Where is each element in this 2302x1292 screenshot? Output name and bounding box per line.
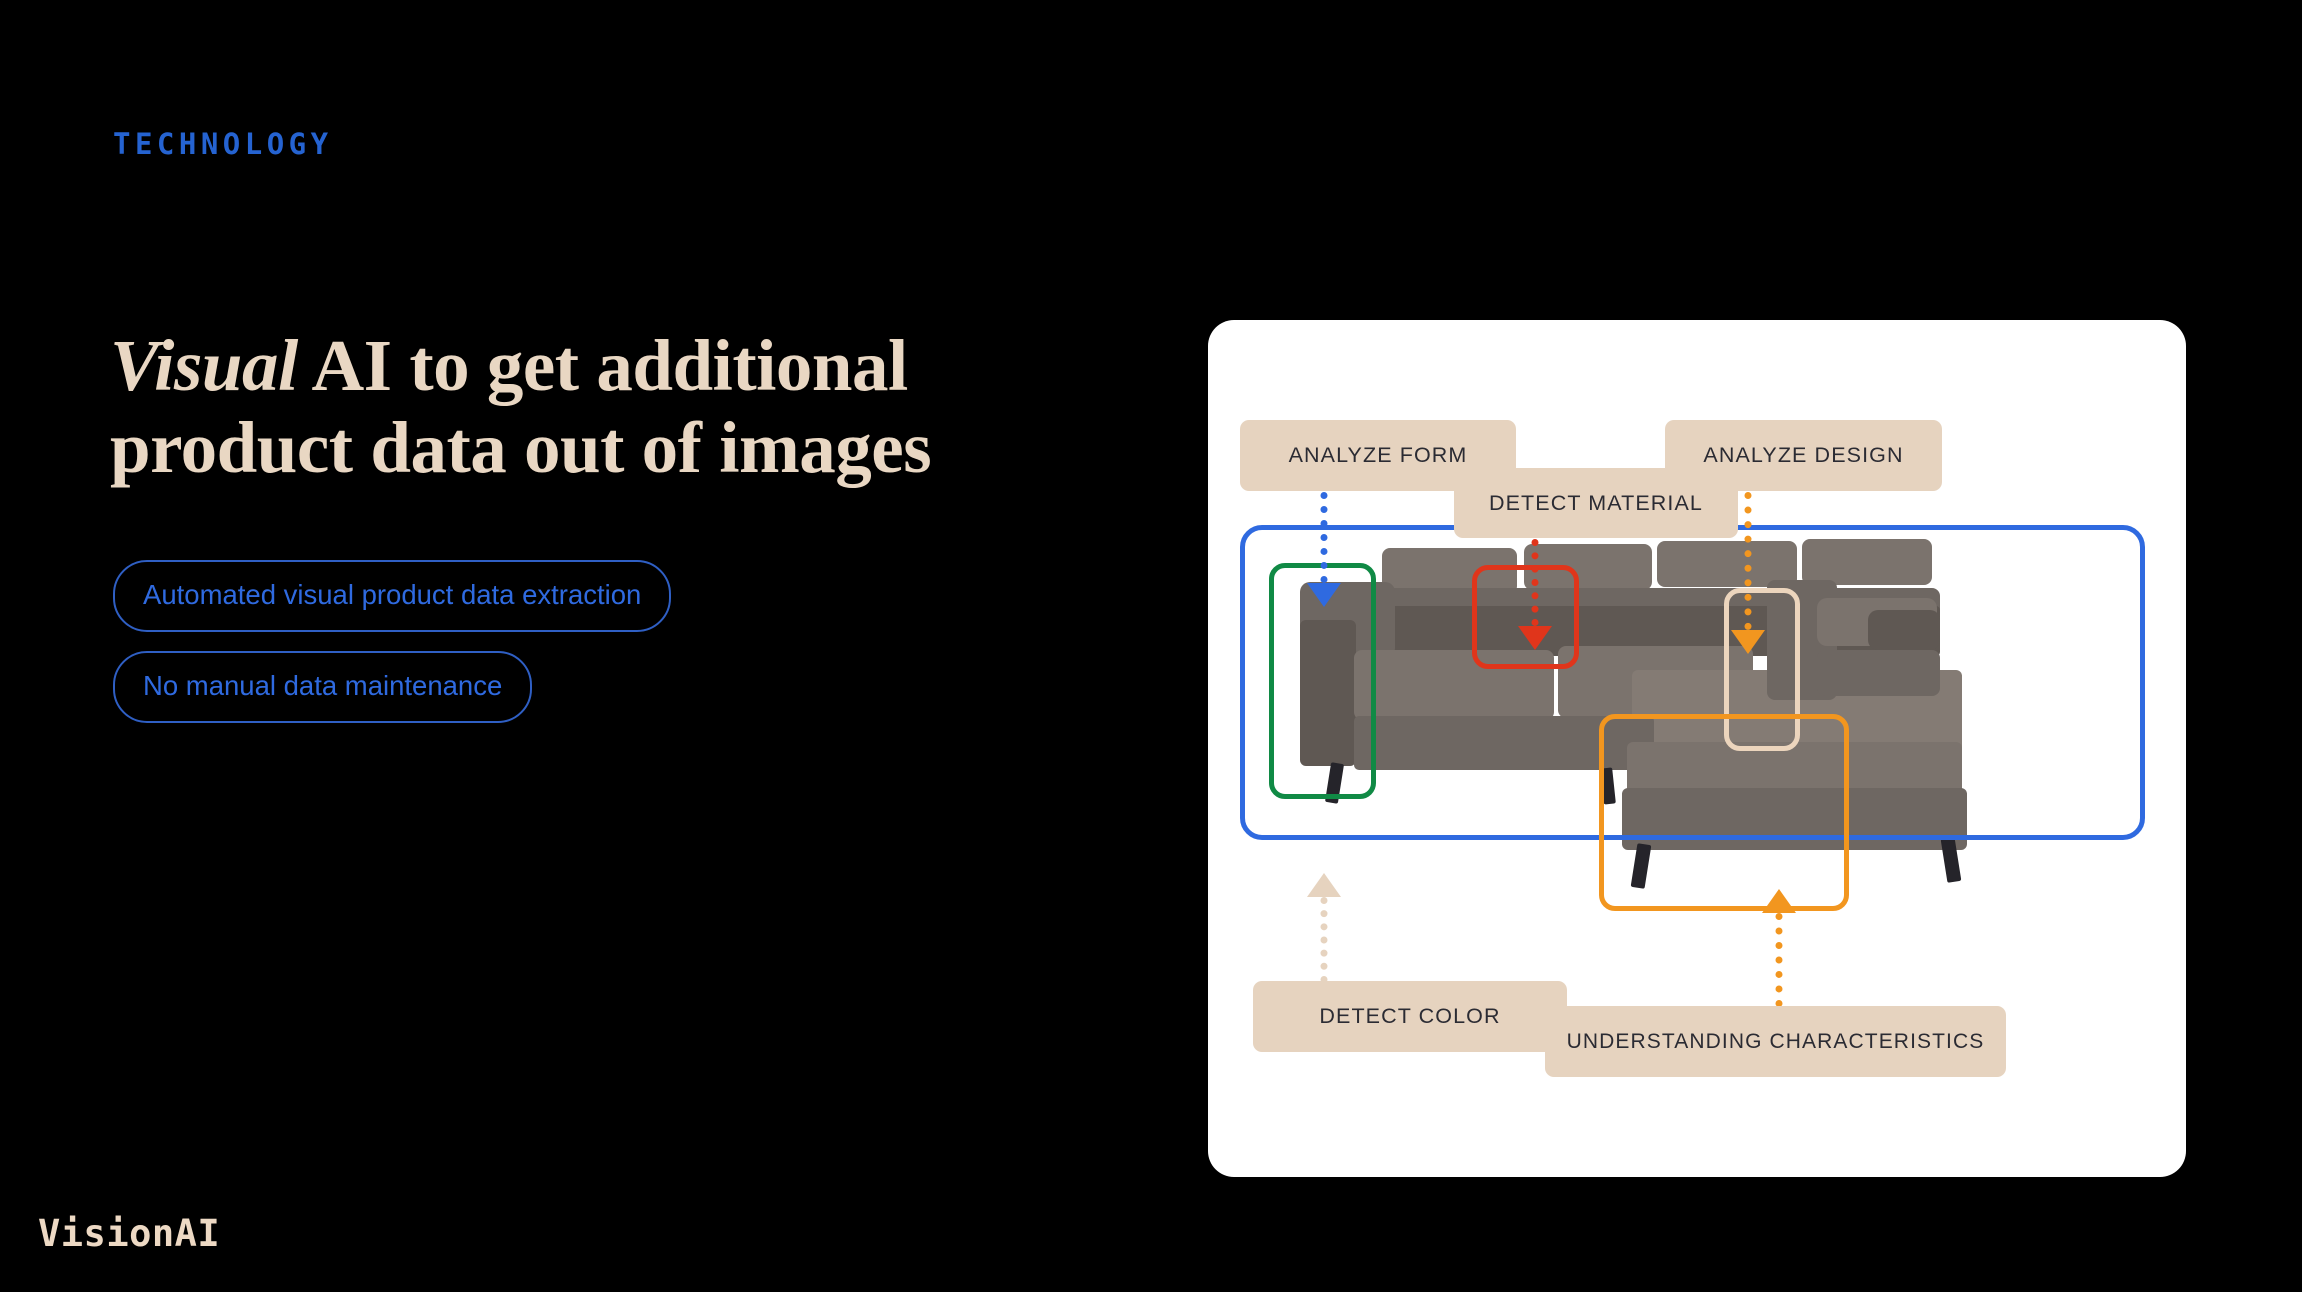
feature-pill-no-manual-maintenance[interactable]: No manual data maintenance xyxy=(113,651,532,723)
connector-detect-material xyxy=(1530,539,1540,650)
connector-detect-color xyxy=(1319,873,1329,983)
tag-label: DETECT COLOR xyxy=(1319,1004,1500,1029)
connector-understanding-characteristics xyxy=(1774,889,1784,1007)
pill-row-1: No manual data maintenance xyxy=(113,651,671,723)
bounding-box-orange-characteristics[interactable] xyxy=(1599,714,1849,911)
tag-label: UNDERSTANDING CHARACTERISTICS xyxy=(1567,1030,1985,1054)
connector-arrowhead-icon xyxy=(1307,583,1341,607)
connector-arrowhead-icon xyxy=(1307,873,1341,897)
connector-arrowhead-icon xyxy=(1731,630,1765,654)
connector-arrowhead-icon xyxy=(1518,626,1552,650)
connector-analyze-form xyxy=(1319,492,1329,607)
connector-dotted-line xyxy=(1776,913,1783,1007)
feature-pill-automated-extraction[interactable]: Automated visual product data extraction xyxy=(113,560,671,632)
connector-dotted-line xyxy=(1321,897,1328,983)
tag-label: ANALYZE FORM xyxy=(1289,443,1468,468)
connector-dotted-line xyxy=(1745,492,1752,630)
connector-dotted-line xyxy=(1321,492,1328,583)
visual-ai-diagram-card: ANALYZE FORM DETECT MATERIAL ANALYZE DES… xyxy=(1208,320,2186,1177)
connector-analyze-design xyxy=(1743,492,1753,654)
feature-pill-list: Automated visual product data extraction… xyxy=(113,560,671,742)
headline-italic-word: Visual xyxy=(110,325,298,406)
connector-dotted-line xyxy=(1532,539,1539,626)
brand-logo: VisionAI xyxy=(38,1212,220,1255)
diagram-stage: ANALYZE FORM DETECT MATERIAL ANALYZE DES… xyxy=(1208,320,2186,1177)
bounding-box-red-material[interactable] xyxy=(1472,565,1579,669)
pill-row-0: Automated visual product data extraction xyxy=(113,560,671,632)
tag-understanding-characteristics[interactable]: UNDERSTANDING CHARACTERISTICS xyxy=(1545,1006,2006,1077)
tag-detect-color[interactable]: DETECT COLOR xyxy=(1253,981,1567,1052)
connector-arrowhead-icon xyxy=(1762,889,1796,913)
tag-analyze-design[interactable]: ANALYZE DESIGN xyxy=(1665,420,1942,491)
section-eyebrow: TECHNOLOGY xyxy=(113,127,333,161)
tag-label: ANALYZE DESIGN xyxy=(1703,443,1903,468)
page-title: Visual AI to get additional product data… xyxy=(110,325,950,490)
tag-label: DETECT MATERIAL xyxy=(1489,491,1703,516)
slide-left-column: TECHNOLOGY Visual AI to get additional p… xyxy=(0,0,1180,1292)
